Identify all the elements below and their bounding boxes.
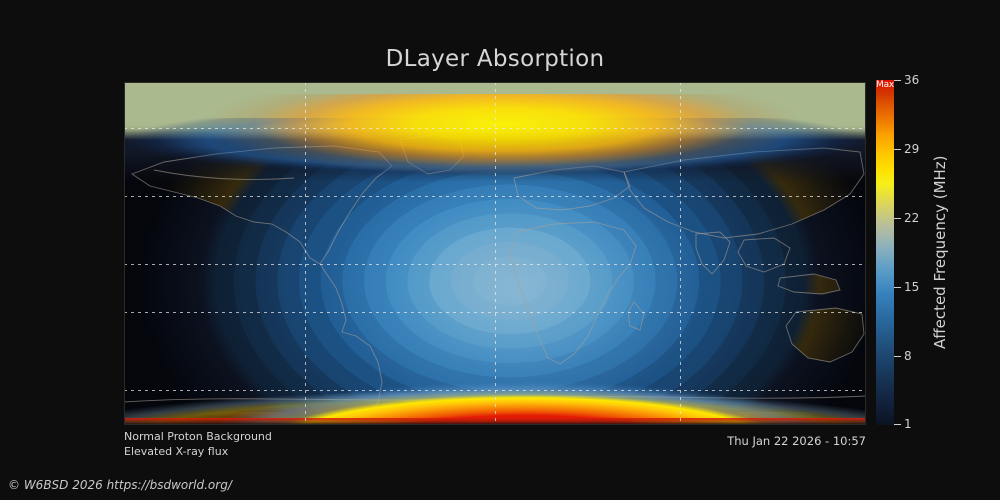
colorbar[interactable]: Max — [876, 80, 894, 425]
colorbar-tick — [894, 218, 901, 219]
timestamp-label: Thu Jan 22 2026 - 10:57 — [727, 434, 866, 448]
colorbar-tick-label: 8 — [904, 350, 912, 362]
colorbar-max-badge: Max — [876, 79, 894, 91]
status-line-xray: Elevated X-ray flux — [124, 444, 272, 459]
gridline-vertical — [680, 82, 681, 425]
gridline-vertical — [495, 82, 496, 425]
colorbar-tick-label: 15 — [904, 281, 919, 293]
colorbar-tick — [894, 356, 901, 357]
colorbar-tick-label: 36 — [904, 74, 919, 86]
status-line-proton: Normal Proton Background — [124, 429, 272, 444]
colorbar-tick-label: 29 — [904, 143, 919, 155]
colorbar-tick — [894, 80, 901, 81]
gridline-vertical — [305, 82, 306, 425]
status-annotations: Normal Proton Background Elevated X-ray … — [124, 429, 272, 459]
world-absorption-map[interactable] — [124, 82, 866, 425]
colorbar-tick-label: 1 — [904, 418, 912, 430]
colorbar-tick-label: 22 — [904, 212, 919, 224]
page-title: DLayer Absorption — [0, 46, 990, 72]
colorbar-tick — [894, 287, 901, 288]
colorbar-tick — [894, 149, 901, 150]
copyright-notice: © W6BSD 2026 https://bsdworld.org/ — [8, 478, 232, 492]
colorbar-tick — [894, 424, 901, 425]
colorbar-gradient — [876, 80, 894, 425]
colorbar-axis-label: Affected Frequency (MHz) — [930, 80, 950, 425]
